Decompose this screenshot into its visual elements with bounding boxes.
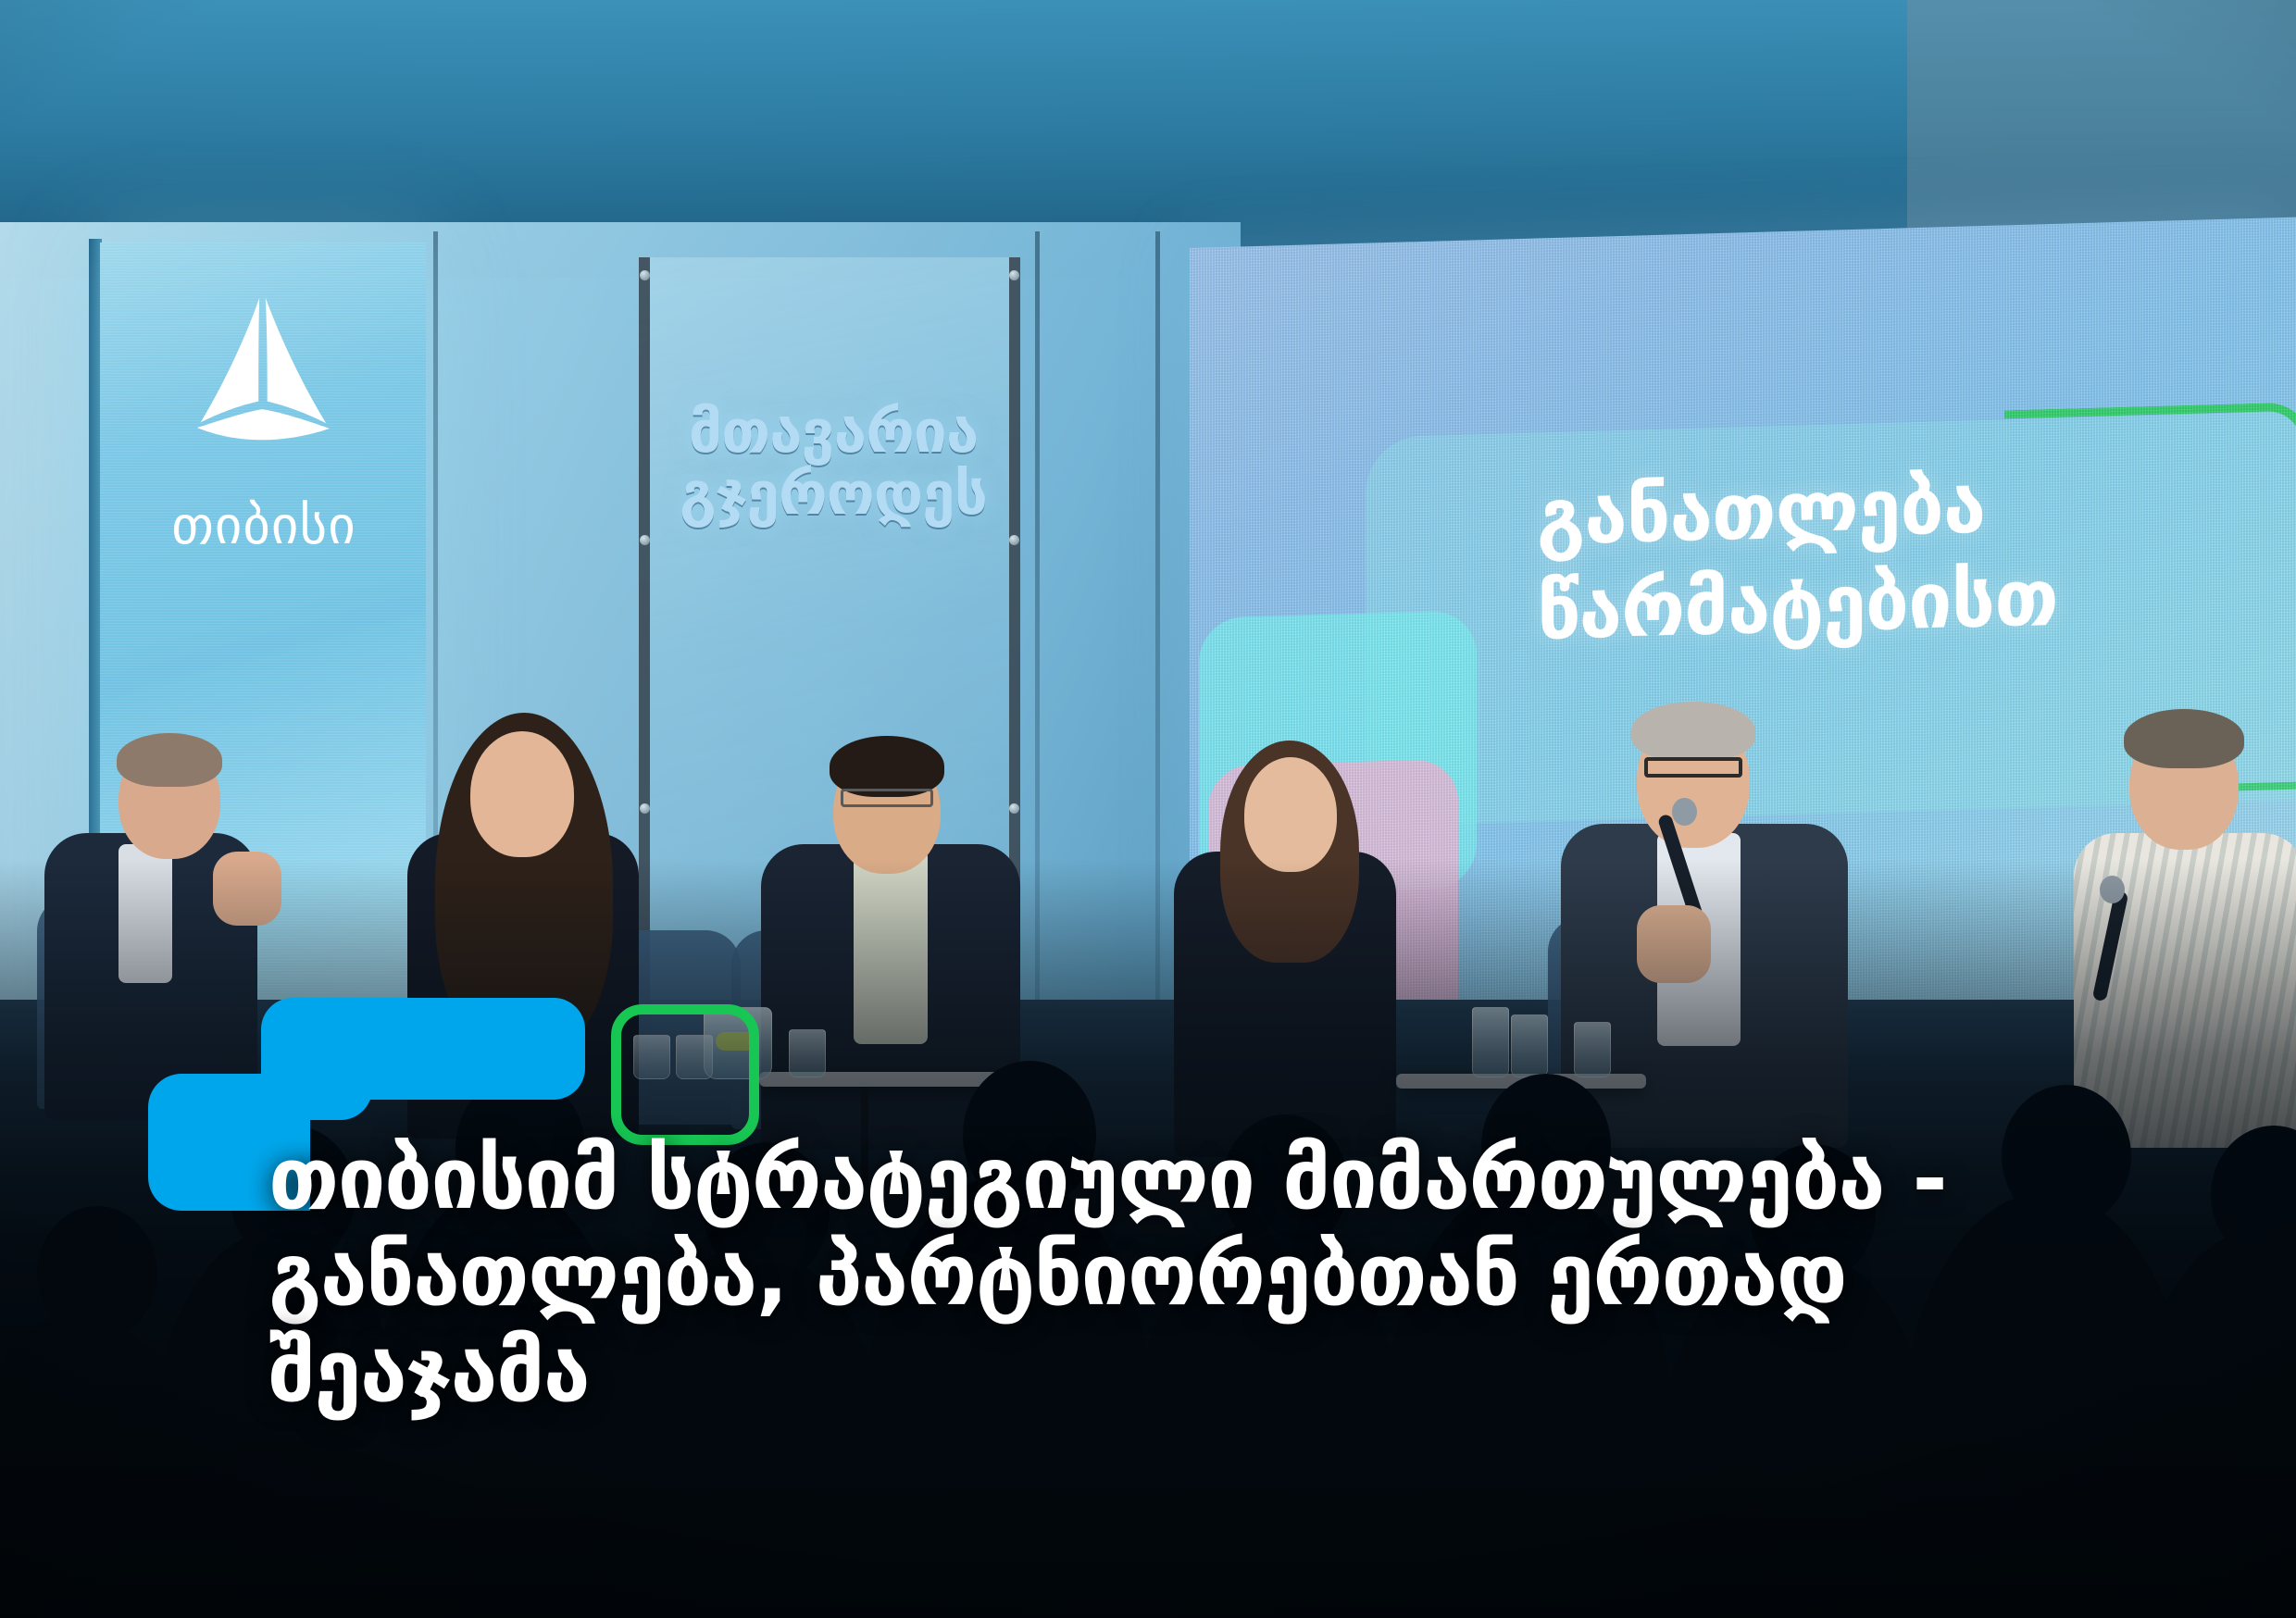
sign-line-2: გჯეროდეს (680, 460, 987, 529)
drinking-glass (789, 1029, 826, 1077)
hair (1631, 702, 1755, 761)
bolt-icon (640, 535, 650, 545)
hair (117, 733, 222, 787)
led-line-1: განათლება (1537, 455, 2058, 565)
sign-line-1: მთავარია (689, 398, 979, 467)
tbc-wordmark: თიბისი (139, 500, 389, 553)
shirt (119, 844, 172, 983)
tbc-triangle-logo-icon (174, 294, 350, 461)
bolt-icon (1009, 535, 1019, 545)
shirt (854, 850, 928, 1044)
eyeglasses-icon (1644, 757, 1742, 778)
stage-sign-text: მთავარია გჯეროდეს (648, 402, 1018, 525)
bolt-icon (640, 270, 650, 280)
bolt-icon (640, 803, 650, 814)
microphone-head-icon (2100, 876, 2125, 903)
hair (2124, 709, 2244, 768)
head (470, 731, 574, 857)
bolt-icon (1009, 270, 1019, 280)
led-line-2: წარმატებისთ (1537, 551, 2058, 660)
eyeglasses-icon (841, 789, 933, 807)
hand (1637, 905, 1711, 983)
headline-line-1: თიბისიმ სტრატეგიული მიმართულება - (268, 1129, 1946, 1228)
audience-head (37, 1206, 157, 1340)
drinking-glass (1472, 1007, 1509, 1077)
bolt-icon (1009, 803, 1019, 814)
head (1244, 757, 1337, 872)
led-wall-text: განათლება წარმატებისთ (1537, 455, 2058, 660)
headline-line-2: განათლება, პარტნიორებთან ერთად შეაჯამა (268, 1227, 2176, 1420)
drinking-glass (1574, 1022, 1611, 1077)
green-rounded-square-outline-icon (611, 1004, 759, 1145)
event-hero-banner: თიბისი მთავარია გჯეროდეს განათლება წარმა… (0, 0, 2296, 1618)
microphone-head-icon (1672, 798, 1697, 826)
wall-seam (1155, 231, 1160, 1092)
hand (213, 852, 281, 926)
drinking-glass (1511, 1014, 1548, 1077)
wall-seam (1035, 231, 1040, 1092)
headline: თიბისიმ სტრატეგიული მიმართულება - განათლ… (268, 1131, 2176, 1420)
